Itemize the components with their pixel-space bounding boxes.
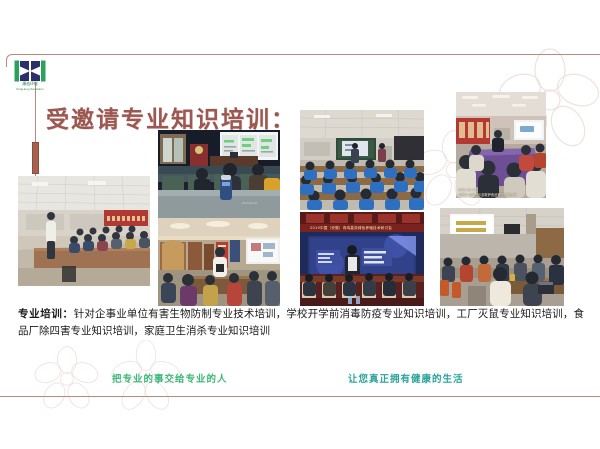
photo-1-image bbox=[18, 176, 150, 286]
photo-food-company-training: 2022.02.19 合肥市·安徽巴乐部披萨食品有限责任公司 bbox=[456, 92, 546, 198]
description-lead: 专业培训： bbox=[18, 308, 74, 320]
tagline-left: 把专业的事交给专业的人 bbox=[112, 371, 228, 385]
photo-employee-training bbox=[300, 110, 424, 210]
seminar-banner-text: 2019中国（安徽）肉鸡高效绿色养殖技术研讨会 bbox=[310, 226, 392, 231]
photo-2-image: 2019.06.18 bbox=[158, 130, 280, 218]
svg-text:2019.06.18: 2019.06.18 bbox=[242, 201, 257, 205]
photo-4-image bbox=[300, 110, 424, 210]
tagline-right: 让您真正拥有健康的生活 bbox=[348, 371, 464, 385]
frame-vertical-line-lower bbox=[35, 96, 36, 142]
description-block: 专业培训：针对企事业单位有害生物防制专业技术培训，学校开学前消毒防疫专业知识培训… bbox=[18, 306, 584, 340]
photo-lecture-audience bbox=[440, 208, 564, 306]
footer-divider bbox=[0, 396, 600, 397]
photo-3-image bbox=[158, 218, 280, 306]
watermark-company: 合肥市·安徽巴乐部披萨食品有限责任公司 bbox=[458, 193, 516, 197]
photo-lecture-hall: 2019.06.18 bbox=[158, 130, 280, 218]
flower-decoration-bottom-left bbox=[34, 346, 100, 412]
company-logo: 康宏环保 KingHong Sanitation bbox=[14, 60, 46, 91]
frame-accent-bar bbox=[32, 142, 39, 174]
frame-top-line bbox=[17, 54, 600, 55]
photo-6-image bbox=[456, 92, 546, 198]
photo-training-classroom bbox=[18, 176, 150, 286]
page-title: 受邀请专业知识培训： bbox=[46, 100, 296, 134]
photo-technical-seminar: 2019中国（安徽）肉鸡高效绿色养殖技术研讨会 bbox=[300, 212, 424, 306]
photo-meeting-room bbox=[158, 218, 280, 306]
photo-watermark: 2022.02.19 合肥市·安徽巴乐部披萨食品有限责任公司 bbox=[458, 188, 516, 197]
description-text: 针对企事业单位有害生物防制专业技术培训，学校开学前消毒防疫专业知识培训，工厂灭鼠… bbox=[18, 308, 584, 337]
logo-english-text: KingHong Sanitation bbox=[14, 87, 46, 91]
slide-canvas: 康宏环保 KingHong Sanitation 受邀请专业知识培训： bbox=[0, 0, 600, 449]
photo-7-image bbox=[440, 208, 564, 306]
logo-mark-icon bbox=[14, 60, 46, 82]
